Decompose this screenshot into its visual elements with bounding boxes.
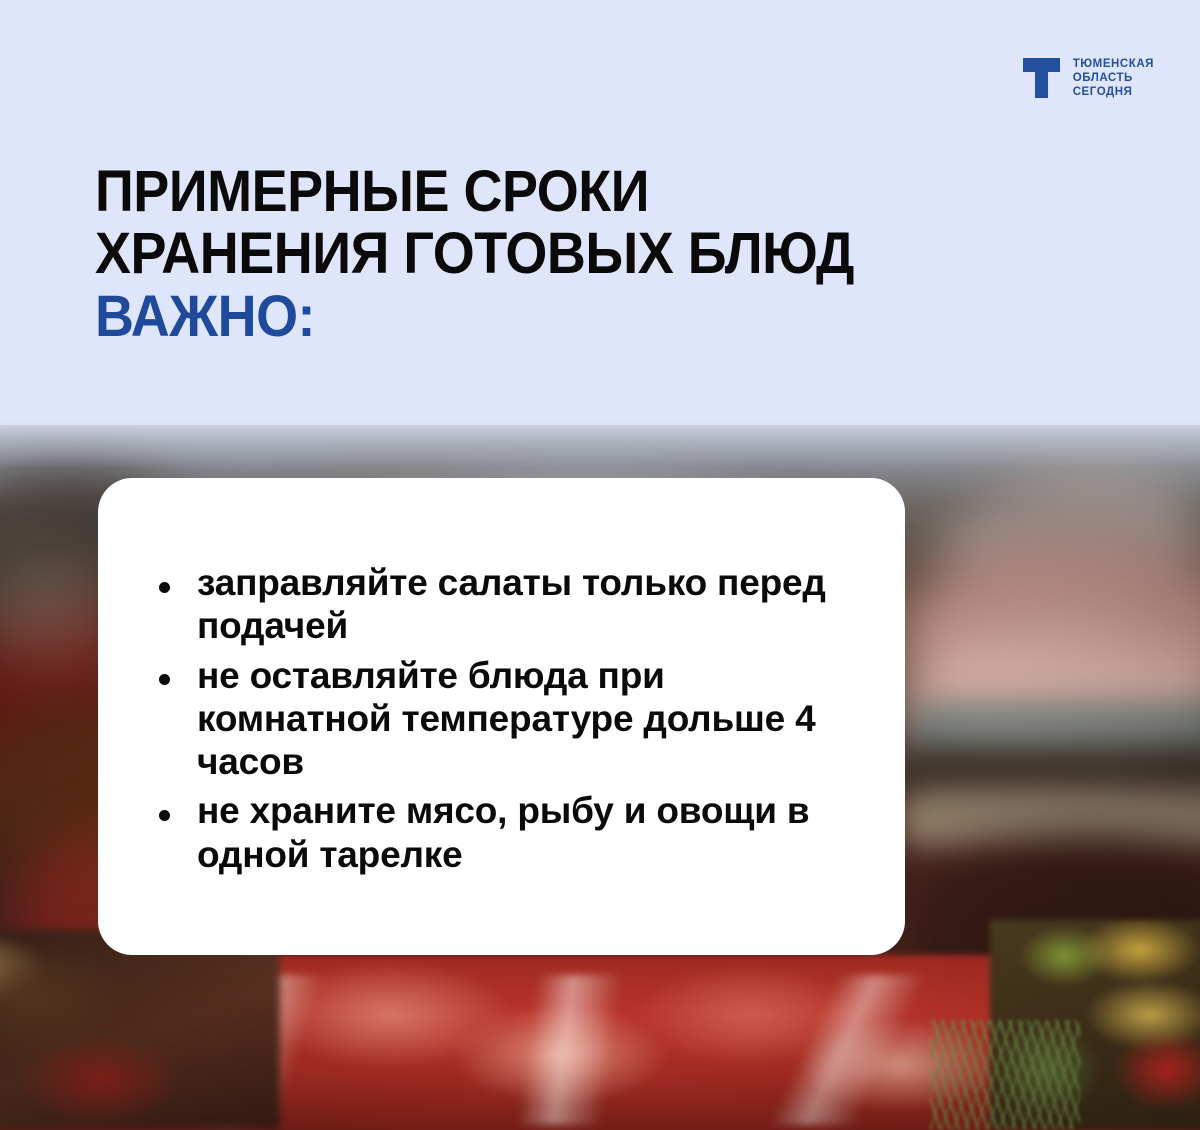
list-item-text: не оставляйте блюда при комнатной темпер… <box>197 655 816 783</box>
title-line-2: ХРАНЕНИЯ ГОТОВЫХ БЛЮД <box>95 226 1006 282</box>
list-item: не храните мясо, рыбу и овощи в одной та… <box>146 789 861 876</box>
tips-list: заправляйте салаты только перед подачей … <box>146 561 861 876</box>
list-item-text: заправляйте салаты только перед подачей <box>197 562 826 646</box>
poster-root: ТЮМЕНСКАЯ ОБЛАСТЬ СЕГОДНЯ ПРИМЕРНЫЕ СРОК… <box>0 0 1200 1130</box>
bullet-dot-icon <box>159 674 170 685</box>
logo-line-1: ТЮМЕНСКАЯ <box>1073 58 1154 71</box>
logo-t-stem <box>1035 70 1048 98</box>
title-accent-important: ВАЖНО: <box>95 289 1006 345</box>
brand-logo-text: ТЮМЕНСКАЯ ОБЛАСТЬ СЕГОДНЯ <box>1073 58 1154 99</box>
foreground-peppers <box>990 920 1200 1130</box>
tips-card: заправляйте салаты только перед подачей … <box>98 478 905 955</box>
bullet-dot-icon <box>159 810 170 821</box>
title-line-1: ПРИМЕРНЫЕ СРОКИ <box>95 164 1006 220</box>
logo-line-3: СЕГОДНЯ <box>1073 86 1154 99</box>
foreground-bottom-left-plate <box>0 930 280 1130</box>
bullet-dot-icon <box>159 582 170 593</box>
brand-logo[interactable]: ТЮМЕНСКАЯ ОБЛАСТЬ СЕГОДНЯ <box>1023 58 1154 99</box>
list-item: не оставляйте блюда при комнатной темпер… <box>146 654 861 784</box>
letter-t-mark-icon <box>1023 58 1060 98</box>
list-item-text: не храните мясо, рыбу и овощи в одной та… <box>197 790 809 874</box>
page-title: ПРИМЕРНЫЕ СРОКИ ХРАНЕНИЯ ГОТОВЫХ БЛЮД ВА… <box>95 164 1075 345</box>
logo-line-2: ОБЛАСТЬ <box>1073 72 1154 85</box>
list-item: заправляйте салаты только перед подачей <box>146 561 861 648</box>
